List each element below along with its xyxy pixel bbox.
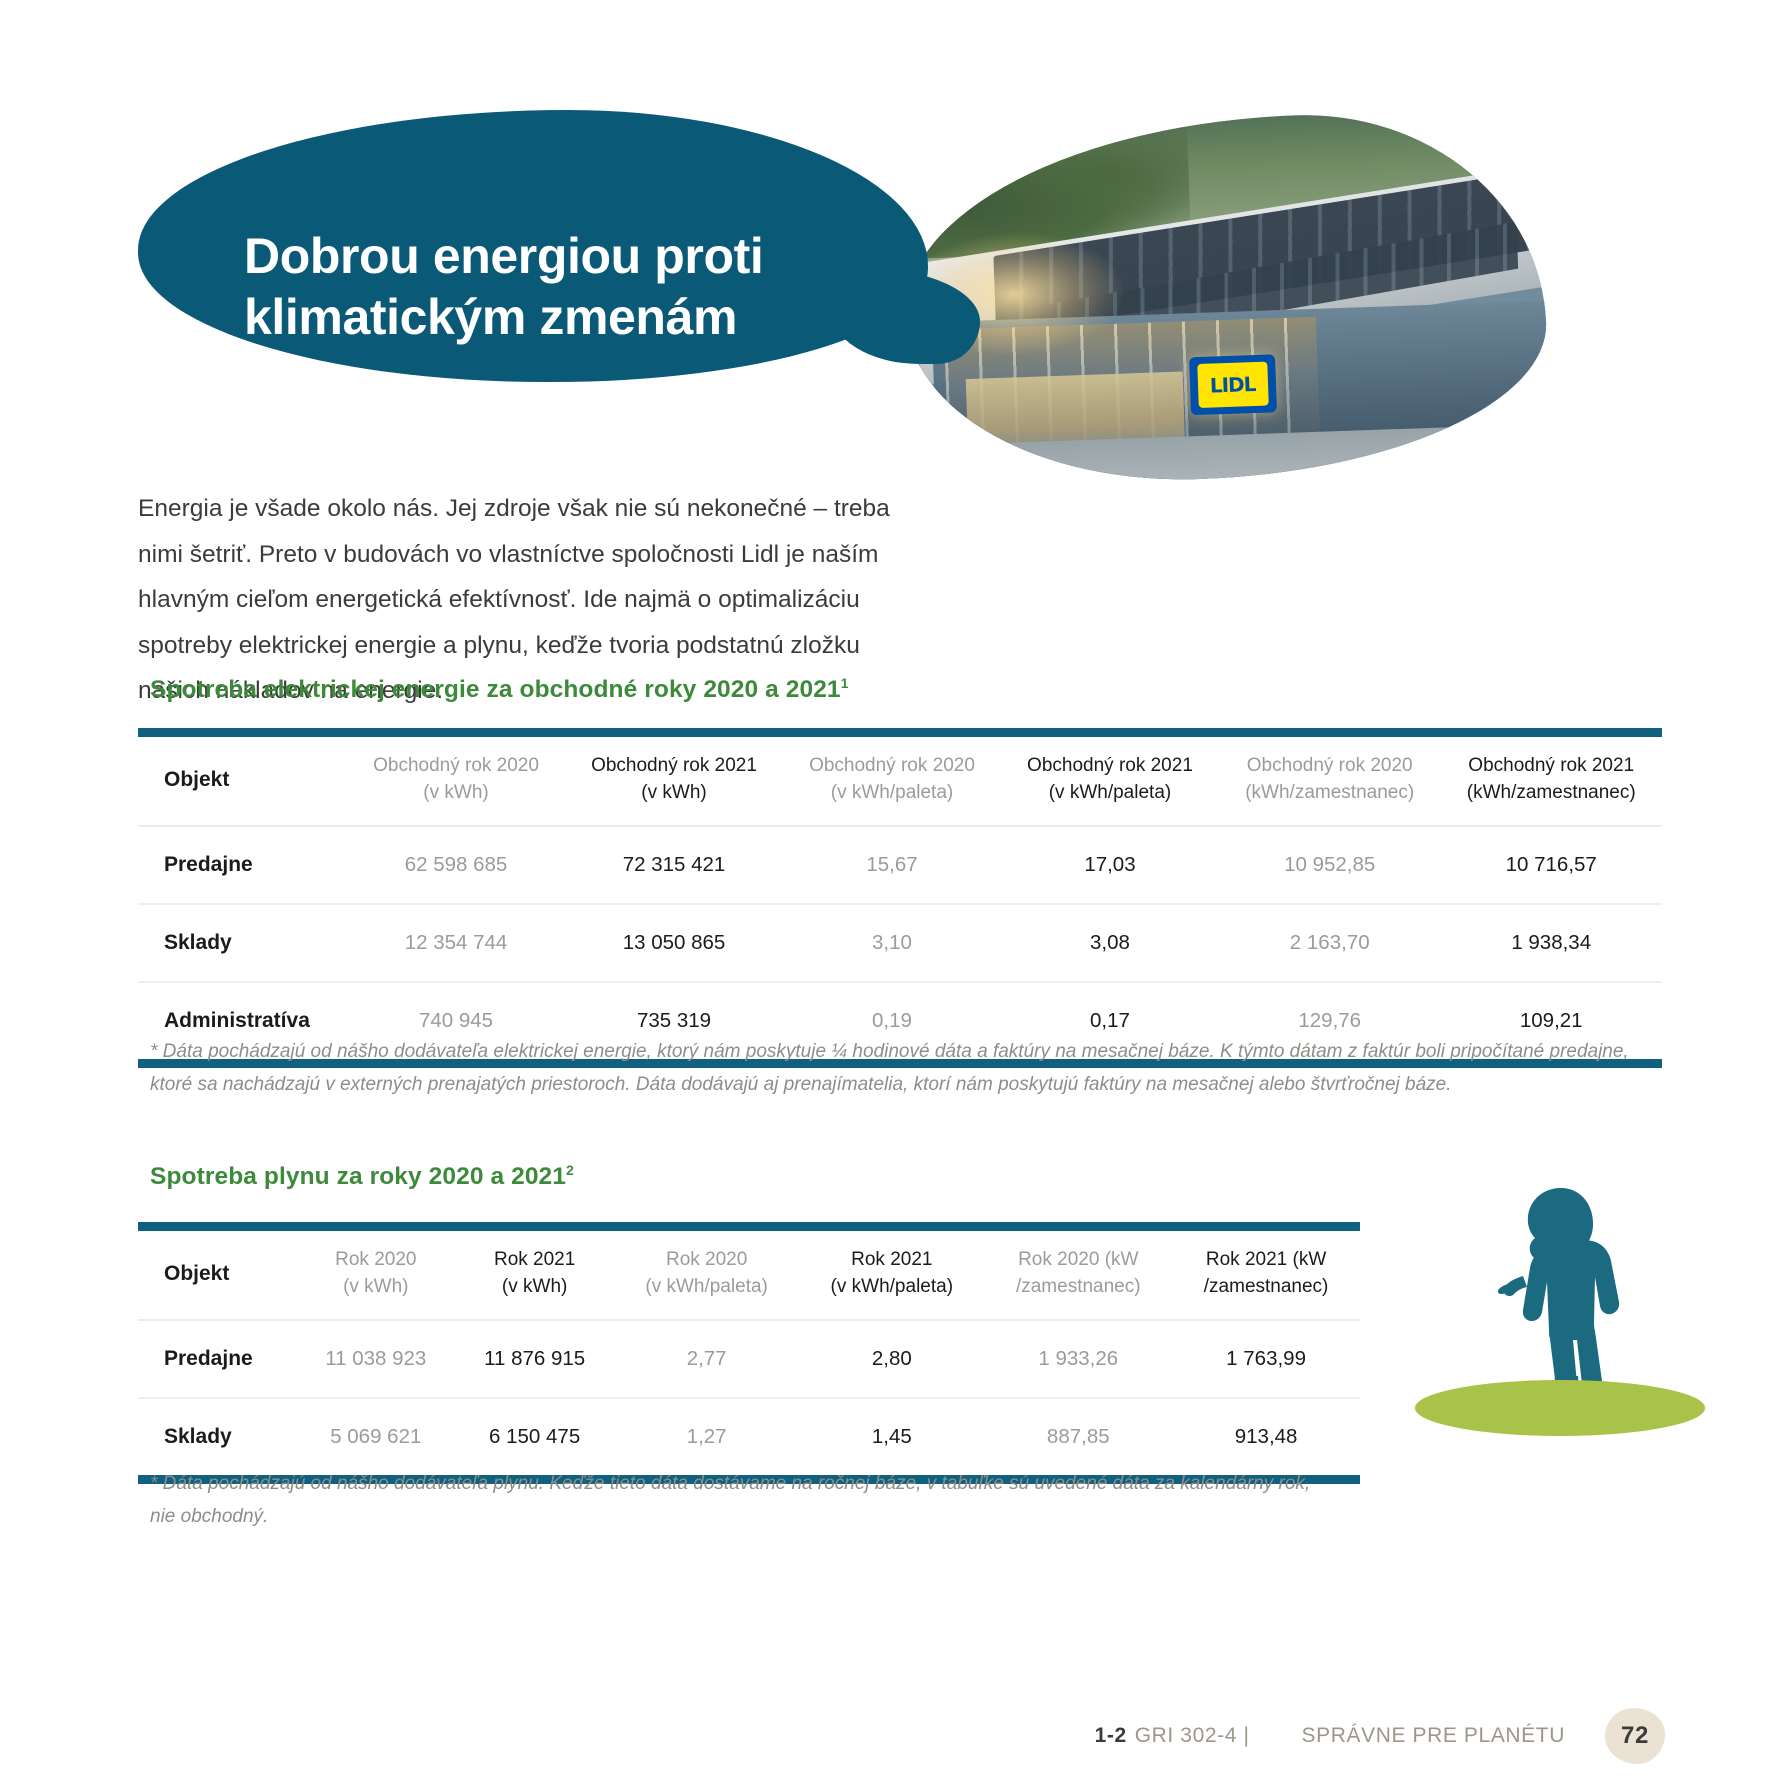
column-header-line2: (v kWh/paleta): [645, 1276, 767, 1297]
page-number-badge: 72: [1605, 1708, 1665, 1764]
column-header-2021-kwh: Obchodný rok 2021 (v kWh): [565, 737, 783, 826]
column-header-line2: (v kWh): [641, 782, 706, 803]
footer-gri-code: GRI 302-4 |: [1135, 1724, 1250, 1748]
column-header-2020-kwh: Rok 2020 (v kWh): [296, 1231, 455, 1320]
column-header-2020-kwh: Obchodný rok 2020 (v kWh): [347, 737, 565, 826]
gas-table-body: Predajne 11 038 923 11 876 915 2,77 2,80…: [138, 1320, 1360, 1475]
hero-section: LIDL Dobrou energiou proti klimatickým z…: [0, 0, 1785, 560]
column-header-line2: (v kWh/paleta): [831, 782, 953, 803]
column-header-line1: Rok 2020 (kW: [1018, 1249, 1138, 1270]
column-header-line1: Rok 2020: [666, 1249, 747, 1270]
column-header-line1: Obchodný rok 2021: [1468, 755, 1634, 776]
cell-2021-kwh-zamestnanec: 1 938,34: [1440, 904, 1662, 982]
cell-2020-kwh: 5 069 621: [296, 1398, 455, 1475]
cell-2020-kwh: 12 354 744: [347, 904, 565, 982]
cell-2021-kwh: 11 876 915: [455, 1320, 614, 1398]
cell-2021-kwh-paleta: 3,08: [1001, 904, 1219, 982]
cell-2020-kwh-paleta: 15,67: [783, 826, 1001, 904]
column-header-2021-kwh: Rok 2021 (v kWh): [455, 1231, 614, 1320]
electricity-table: Objekt Obchodný rok 2020 (v kWh) Obchodn…: [138, 728, 1662, 1068]
column-header-objekt-label: Objekt: [164, 768, 229, 791]
cell-2021-kwh-paleta: 2,80: [799, 1320, 984, 1398]
column-header-line1: Obchodný rok 2021: [1027, 755, 1193, 776]
footer-gri-number: 1-2: [1095, 1724, 1127, 1748]
table-header-row: Objekt Obchodný rok 2020 (v kWh) Obchodn…: [138, 737, 1662, 826]
cell-2020-kw-zamestnanec: 1 933,26: [984, 1320, 1172, 1398]
gas-heading-footnote-marker: 2: [566, 1162, 574, 1178]
electricity-heading-footnote-marker: 1: [841, 675, 849, 691]
column-header-2021-kwh-paleta: Obchodný rok 2021 (v kWh/paleta): [1001, 737, 1219, 826]
page-title: Dobrou energiou proti klimatickým zmenám: [244, 226, 884, 348]
cell-2020-kwh: 11 038 923: [296, 1320, 455, 1398]
footer-section-name: SPRÁVNE PRE PLANÉTU: [1302, 1724, 1565, 1748]
electricity-footnote: * Dáta pochádzajú od nášho dodávateľa el…: [150, 1036, 1650, 1101]
cell-2021-kwh-paleta: 1,45: [799, 1398, 984, 1475]
column-header-line1: Obchodný rok 2020: [373, 755, 539, 776]
page-footer: 1-2 GRI 302-4 | SPRÁVNE PRE PLANÉTU 72: [0, 1706, 1785, 1766]
lidl-logo-sign: LIDL: [1189, 354, 1277, 415]
row-label: Predajne: [138, 826, 347, 904]
column-header-2020-kwh-zamestnanec: Obchodný rok 2020 (kWh/zamestnanec): [1219, 737, 1440, 826]
cell-2020-kwh-paleta: 2,77: [614, 1320, 799, 1398]
table-row: Predajne 62 598 685 72 315 421 15,67 17,…: [138, 826, 1662, 904]
table-top-rule: [138, 728, 1662, 737]
cell-2020-kwh-zamestnanec: 2 163,70: [1219, 904, 1440, 982]
column-header-line2: (kWh/zamestnanec): [1245, 782, 1414, 803]
column-header-objekt-label: Objekt: [164, 1262, 229, 1285]
column-header-line2: /zamestnanec): [1204, 1276, 1329, 1297]
cell-2020-kwh: 62 598 685: [347, 826, 565, 904]
person-illustration: [1415, 1180, 1705, 1450]
table-row: Predajne 11 038 923 11 876 915 2,77 2,80…: [138, 1320, 1360, 1398]
lidl-logo-label: LIDL: [1197, 361, 1268, 407]
column-header-line1: Rok 2020: [335, 1249, 416, 1270]
gas-table: Objekt Rok 2020 (v kWh) Rok 2021 (v kWh)…: [138, 1222, 1360, 1484]
gas-table-head: Objekt Rok 2020 (v kWh) Rok 2021 (v kWh)…: [138, 1231, 1360, 1320]
cell-2021-kwh: 6 150 475: [455, 1398, 614, 1475]
illustration-ground-ellipse: [1415, 1380, 1705, 1436]
cell-2021-kwh-zamestnanec: 10 716,57: [1440, 826, 1662, 904]
gas-section-heading: Spotreba plynu za roky 2020 a 20212: [150, 1162, 574, 1191]
table-row: Sklady 5 069 621 6 150 475 1,27 1,45 887…: [138, 1398, 1360, 1475]
cell-2021-kwh: 13 050 865: [565, 904, 783, 982]
cell-2021-kwh: 72 315 421: [565, 826, 783, 904]
electricity-table-head: Objekt Obchodný rok 2020 (v kWh) Obchodn…: [138, 737, 1662, 826]
cell-2021-kwh-paleta: 17,03: [1001, 826, 1219, 904]
table-header-row: Objekt Rok 2020 (v kWh) Rok 2021 (v kWh)…: [138, 1231, 1360, 1320]
cell-2021-kw-zamestnanec: 1 763,99: [1172, 1320, 1360, 1398]
cell-2020-kw-zamestnanec: 887,85: [984, 1398, 1172, 1475]
column-header-line1: Rok 2021 (kW: [1206, 1249, 1326, 1270]
gas-heading-text: Spotreba plynu za roky 2020 a 2021: [150, 1163, 566, 1190]
column-header-line2: (v kWh): [502, 1276, 567, 1297]
cell-2020-kwh-paleta: 3,10: [783, 904, 1001, 982]
column-header-line1: Obchodný rok 2021: [591, 755, 757, 776]
column-header-2020-kwh-paleta: Obchodný rok 2020 (v kWh/paleta): [783, 737, 1001, 826]
cell-2020-kwh-zamestnanec: 10 952,85: [1219, 826, 1440, 904]
column-header-line2: (v kWh): [423, 782, 488, 803]
column-header-line2: /zamestnanec): [1016, 1276, 1141, 1297]
store-photo: LIDL: [899, 107, 1551, 489]
column-header-line2: (v kWh/paleta): [1049, 782, 1171, 803]
electricity-section-heading: Spotreba elektrickej energie za obchodné…: [150, 675, 849, 704]
column-header-line1: Rok 2021: [494, 1249, 575, 1270]
gas-footnote: * Dáta pochádzajú od nášho dodávateľa pl…: [150, 1468, 1330, 1533]
document-page: LIDL Dobrou energiou proti klimatickým z…: [0, 0, 1785, 1785]
electricity-heading-text: Spotreba elektrickej energie za obchodné…: [150, 676, 841, 703]
electricity-table-body: Predajne 62 598 685 72 315 421 15,67 17,…: [138, 826, 1662, 1059]
column-header-line2: (kWh/zamestnanec): [1467, 782, 1636, 803]
column-header-2021-kwh-zamestnanec: Obchodný rok 2021 (kWh/zamestnanec): [1440, 737, 1662, 826]
column-header-line2: (v kWh/paleta): [831, 1276, 953, 1297]
column-header-2020-kw-zamestnanec: Rok 2020 (kW /zamestnanec): [984, 1231, 1172, 1320]
column-header-2021-kw-zamestnanec: Rok 2021 (kW /zamestnanec): [1172, 1231, 1360, 1320]
gas-data-table: Objekt Rok 2020 (v kWh) Rok 2021 (v kWh)…: [138, 1231, 1360, 1475]
cell-2021-kw-zamestnanec: 913,48: [1172, 1398, 1360, 1475]
column-header-line2: (v kWh): [343, 1276, 408, 1297]
column-header-objekt: Objekt: [138, 1231, 296, 1320]
table-row: Sklady 12 354 744 13 050 865 3,10 3,08 2…: [138, 904, 1662, 982]
row-label: Sklady: [138, 1398, 296, 1475]
cell-2020-kwh-paleta: 1,27: [614, 1398, 799, 1475]
column-header-line1: Obchodný rok 2020: [809, 755, 975, 776]
column-header-line1: Obchodný rok 2020: [1247, 755, 1413, 776]
column-header-2021-kwh-paleta: Rok 2021 (v kWh/paleta): [799, 1231, 984, 1320]
row-label: Sklady: [138, 904, 347, 982]
column-header-2020-kwh-paleta: Rok 2020 (v kWh/paleta): [614, 1231, 799, 1320]
row-label: Predajne: [138, 1320, 296, 1398]
table-top-rule: [138, 1222, 1360, 1231]
column-header-objekt: Objekt: [138, 737, 347, 826]
column-header-line1: Rok 2021: [851, 1249, 932, 1270]
electricity-data-table: Objekt Obchodný rok 2020 (v kWh) Obchodn…: [138, 737, 1662, 1059]
